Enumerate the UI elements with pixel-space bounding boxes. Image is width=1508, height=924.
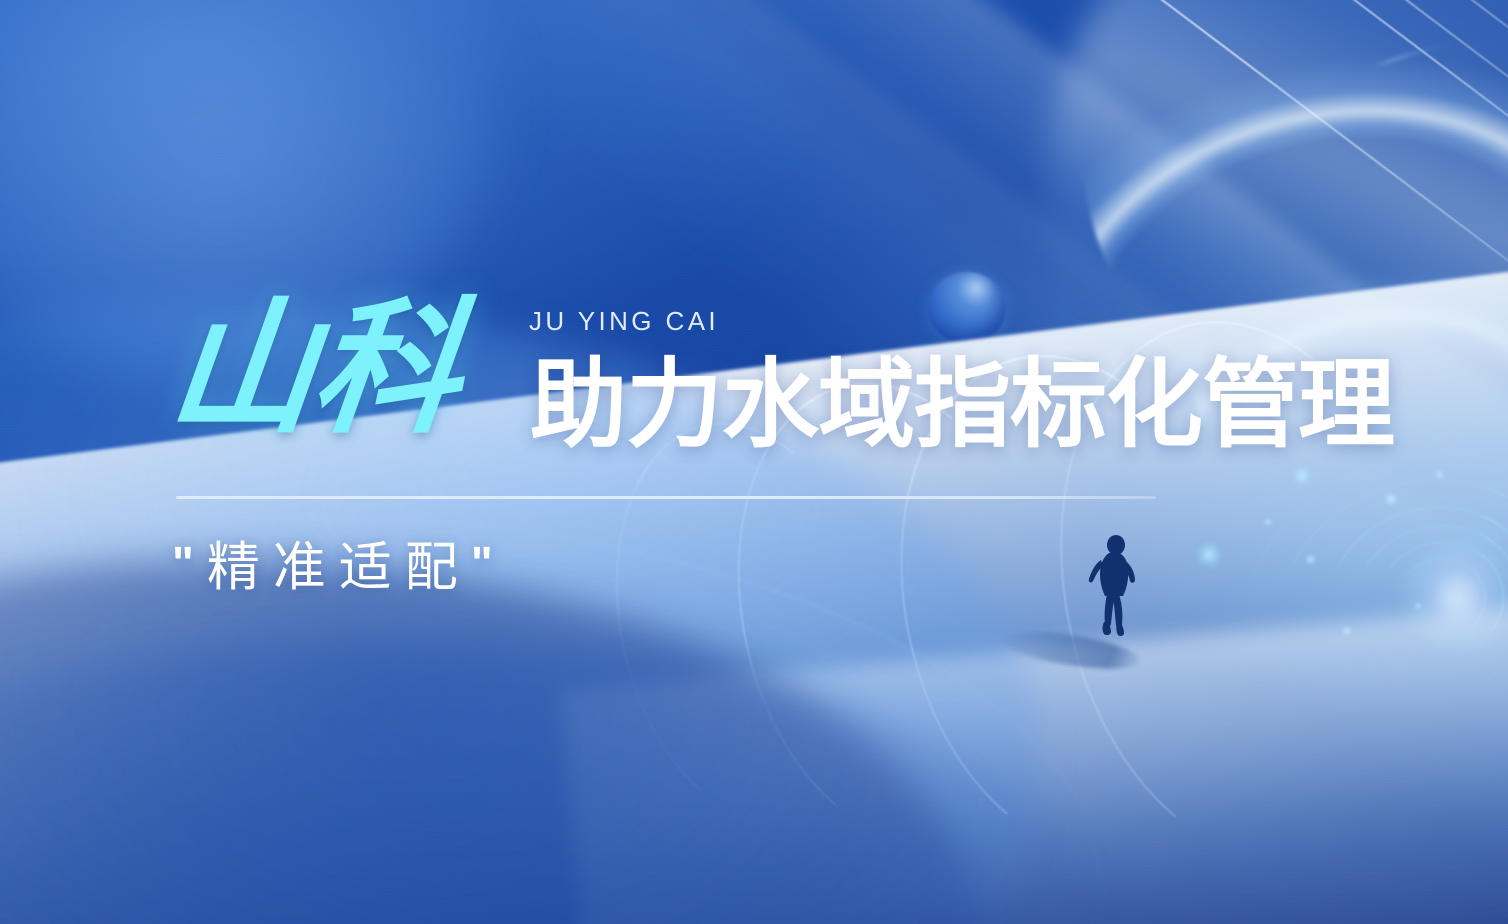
brand-pinyin-text: JU YING CAI [529, 306, 719, 337]
subtitle-open-quote: " [172, 537, 207, 589]
headline-text: 助力水域指标化管理 [530, 356, 1394, 453]
banner-content: 山科 JU YING CAI 助力水域指标化管理 "精准适配" [0, 0, 1508, 924]
subtitle-close-quote: " [471, 537, 506, 589]
subtitle-text: 精准适配 [207, 538, 471, 597]
brand-logo-text: 山科 [162, 296, 465, 442]
subtitle-group: "精准适配" [172, 540, 506, 594]
divider-line [176, 496, 1156, 499]
banner-canvas: 山科 JU YING CAI 助力水域指标化管理 "精准适配" [0, 0, 1508, 924]
